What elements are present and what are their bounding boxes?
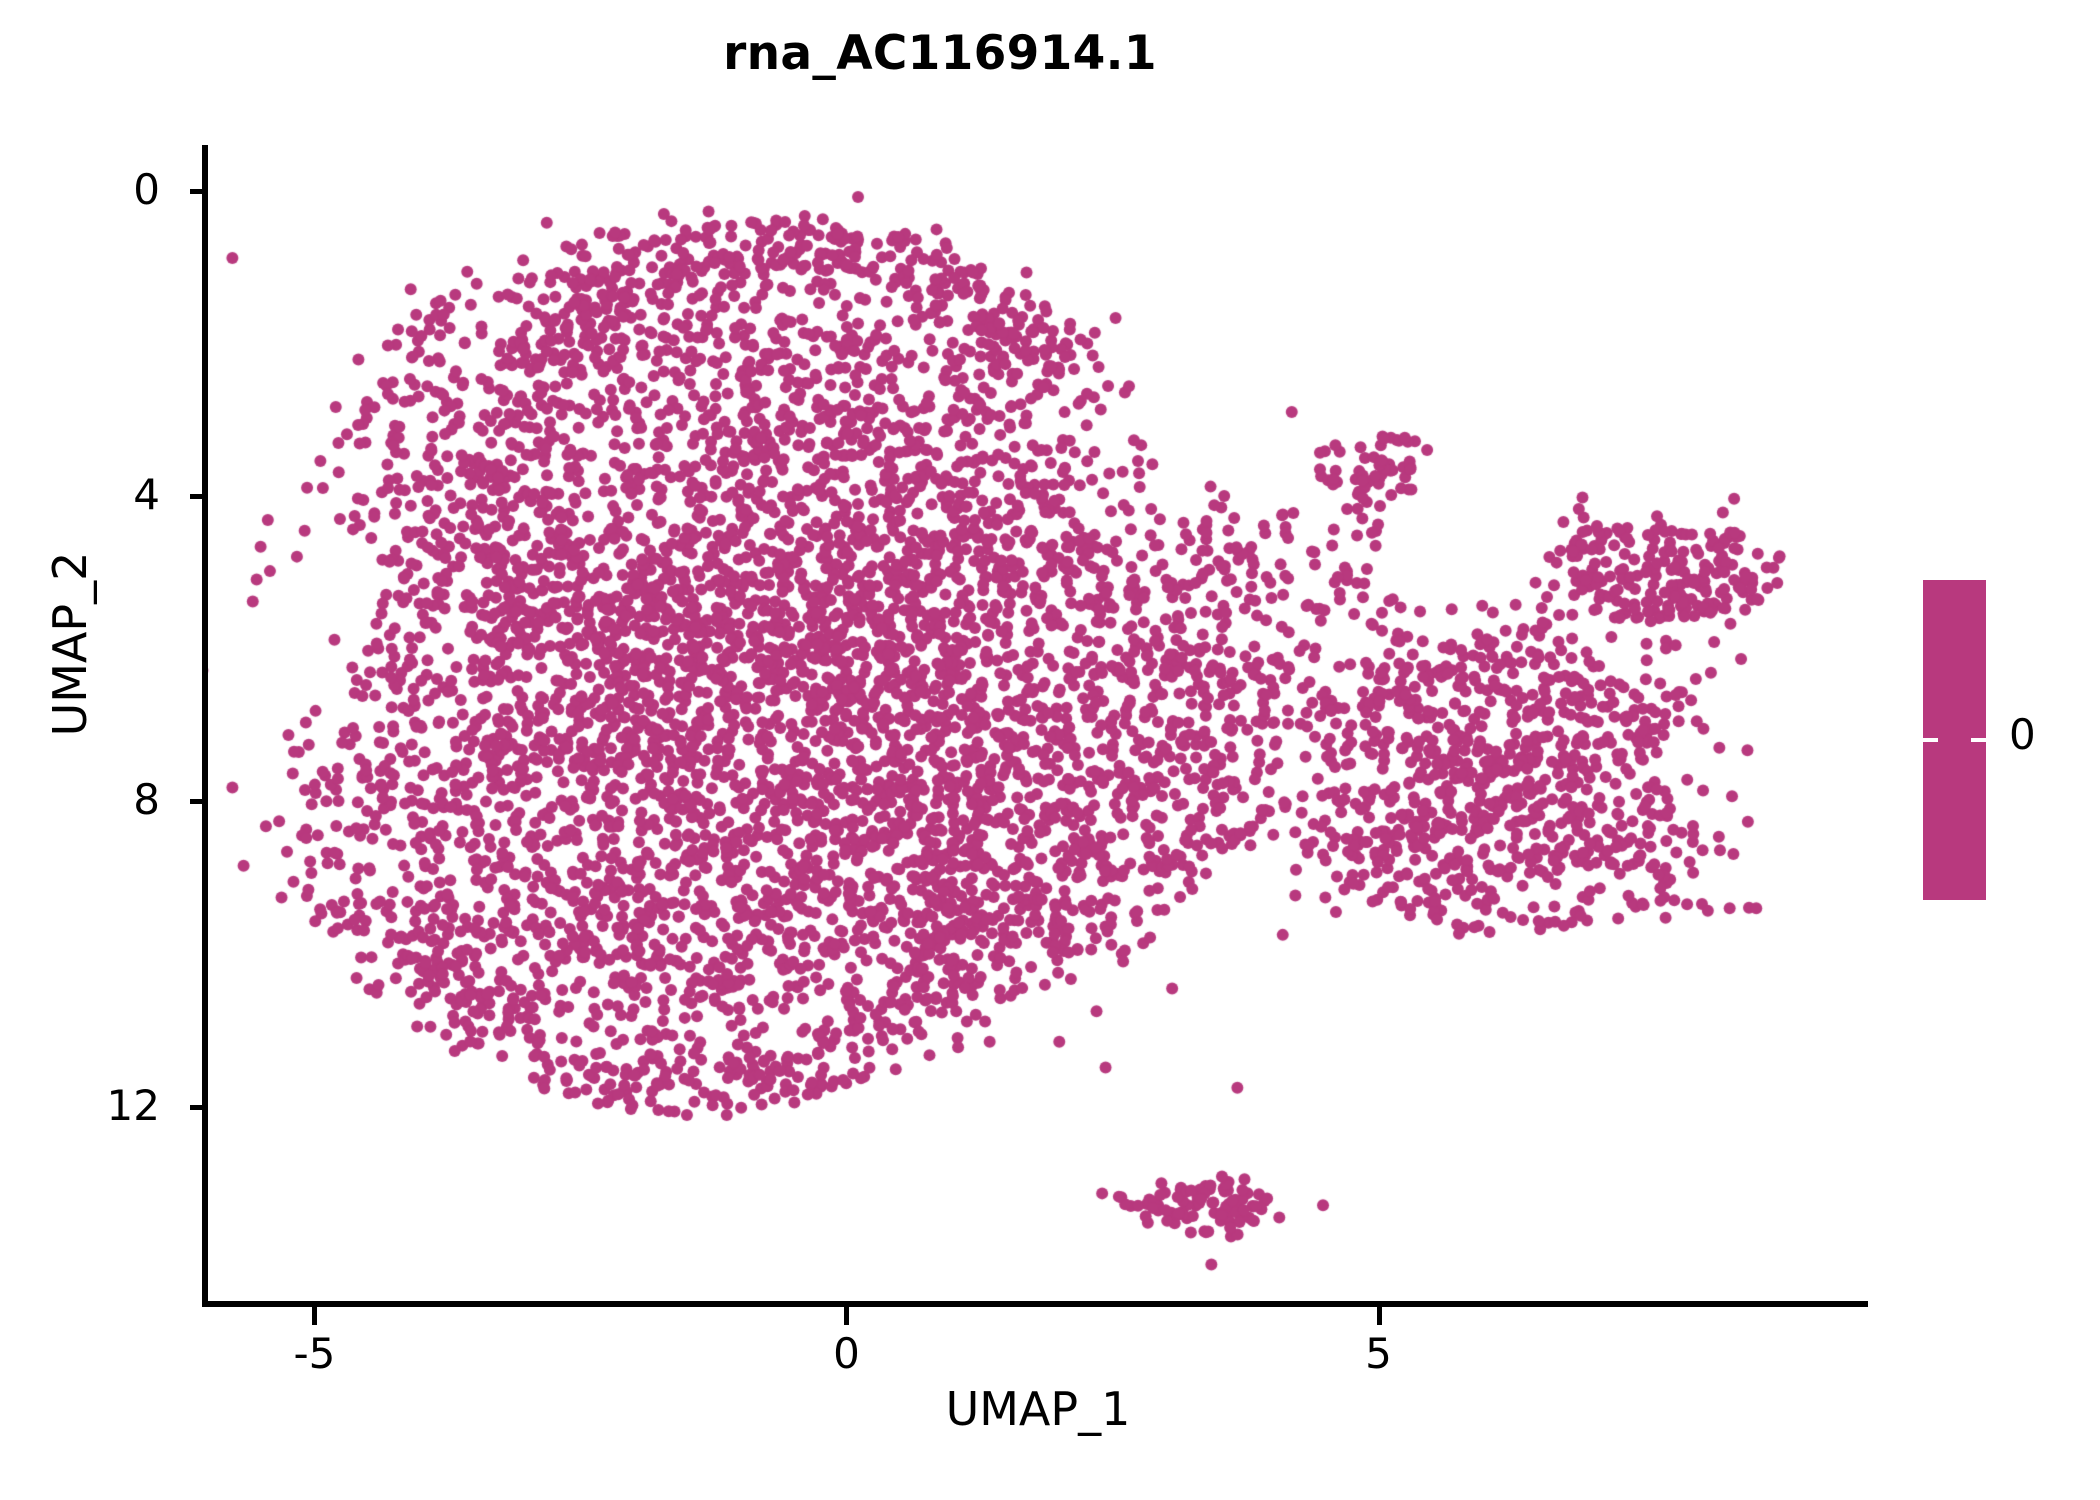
colorbar-tick-right	[1971, 738, 1986, 742]
x-tick-mark	[1377, 1307, 1382, 1325]
umap-figure: rna_AC116914.1 12840 -505 UMAP_1 UMAP_2 …	[0, 0, 2100, 1500]
page-title: rna_AC116914.1	[0, 26, 1880, 81]
x-tick-mark	[844, 1307, 849, 1325]
colorbar-tick-label: 0	[2009, 714, 2036, 756]
y-tick-mark	[190, 799, 208, 804]
colorbar-tick-left	[1923, 738, 1938, 742]
x-tick-mark	[312, 1307, 317, 1325]
y-tick-mark	[190, 1105, 208, 1110]
y-tick-mark	[190, 189, 208, 194]
x-tick-label: -5	[234, 1333, 394, 1375]
x-tick-label: 5	[1299, 1333, 1459, 1375]
scatter-points-canvas	[208, 145, 1868, 1305]
plot-area	[208, 145, 1868, 1305]
x-axis-label: UMAP_1	[208, 1382, 1868, 1436]
y-tick-label: 0	[0, 169, 174, 211]
x-tick-label: 0	[766, 1333, 926, 1375]
y-tick-label: 12	[0, 1085, 174, 1127]
y-axis-label: UMAP_2	[43, 364, 97, 924]
y-tick-mark	[190, 494, 208, 499]
